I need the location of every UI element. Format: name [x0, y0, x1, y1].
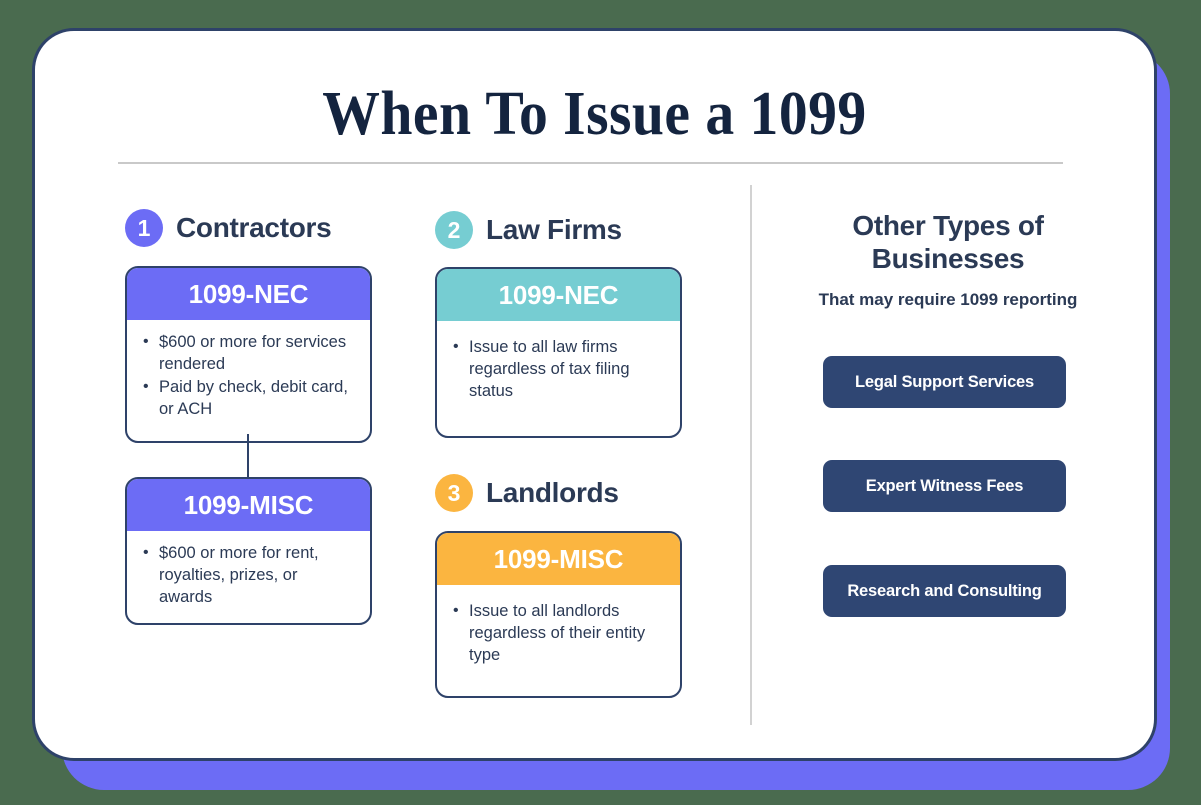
form-card-title: 1099-MISC — [127, 479, 370, 531]
page-title: When To Issue a 1099 — [74, 79, 1115, 150]
section-heading-contractors: 1 Contractors — [125, 209, 331, 247]
form-card-law-firms-nec[interactable]: 1099-NEC Issue to all law firms regardle… — [435, 267, 682, 438]
form-card-title: 1099-NEC — [127, 268, 370, 320]
step-number-badge-1: 1 — [125, 209, 163, 247]
other-business-item-research-and-consulting[interactable]: Research and Consulting — [823, 565, 1066, 617]
title-divider — [118, 162, 1063, 164]
column-divider — [750, 185, 752, 725]
form-card-body: $600 or more for rent, royalties, prizes… — [127, 531, 370, 620]
infographic-card: When To Issue a 1099 1 Contractors 1099-… — [32, 28, 1157, 761]
other-business-item-expert-witness-fees[interactable]: Expert Witness Fees — [823, 460, 1066, 512]
list-item: $600 or more for services rendered — [159, 332, 354, 376]
form-card-body: Issue to all law firms regardless of tax… — [437, 321, 680, 414]
other-businesses-subtitle: That may require 1099 reporting — [783, 289, 1113, 310]
form-card-title: 1099-NEC — [437, 269, 680, 321]
section-label-law-firms: Law Firms — [486, 214, 622, 246]
list-item: Paid by check, debit card, or ACH — [159, 377, 354, 421]
list-item: Issue to all law firms regardless of tax… — [469, 337, 664, 403]
card-connector-line — [247, 434, 249, 482]
form-card-contractors-nec[interactable]: 1099-NEC $600 or more for services rende… — [125, 266, 372, 443]
form-card-contractors-misc[interactable]: 1099-MISC $600 or more for rent, royalti… — [125, 477, 372, 625]
form-card-title: 1099-MISC — [437, 533, 680, 585]
list-item: Issue to all landlords regardless of the… — [469, 601, 664, 667]
other-business-item-legal-support-services[interactable]: Legal Support Services — [823, 356, 1066, 408]
other-businesses-title: Other Types of Businesses — [783, 210, 1113, 276]
form-card-body: $600 or more for services rendered Paid … — [127, 320, 370, 432]
form-card-body: Issue to all landlords regardless of the… — [437, 585, 680, 678]
section-label-contractors: Contractors — [176, 212, 331, 244]
step-number-badge-3: 3 — [435, 474, 473, 512]
form-card-landlords-misc[interactable]: 1099-MISC Issue to all landlords regardl… — [435, 531, 682, 698]
section-heading-law-firms: 2 Law Firms — [435, 211, 622, 249]
section-heading-landlords: 3 Landlords — [435, 474, 619, 512]
section-label-landlords: Landlords — [486, 477, 619, 509]
list-item: $600 or more for rent, royalties, prizes… — [159, 543, 354, 609]
step-number-badge-2: 2 — [435, 211, 473, 249]
